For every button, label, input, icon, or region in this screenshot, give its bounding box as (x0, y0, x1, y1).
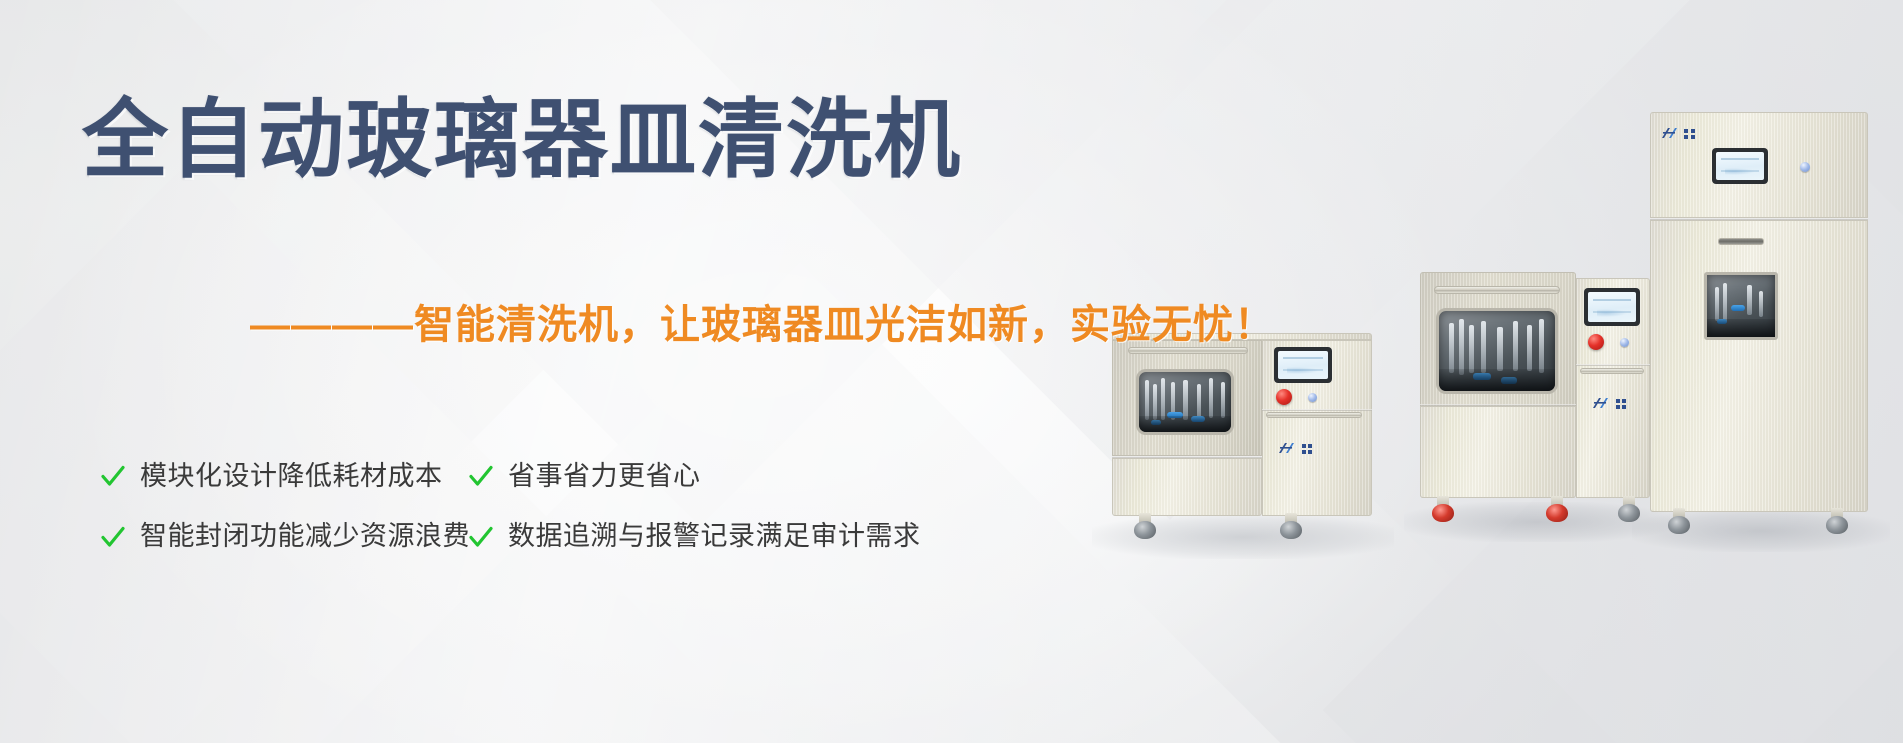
feature-item: 数据追溯与报警记录满足审计需求 (468, 520, 921, 552)
banner-text-content: 全自动玻璃器皿清洗机 ————智能清洗机，让玻璃器皿光洁如新，实验无忧！ 模块化… (0, 0, 1903, 743)
feature-row: 智能封闭功能减少资源浪费 数据追溯与报警记录满足审计需求 (100, 520, 900, 552)
feature-label: 省事省力更省心 (508, 460, 701, 492)
feature-list: 模块化设计降低耗材成本 省事省力更省心 (100, 460, 900, 581)
feature-item: 智能封闭功能减少资源浪费 (100, 520, 468, 552)
page-title: 全自动玻璃器皿清洗机 (82, 95, 962, 185)
feature-row: 模块化设计降低耗材成本 省事省力更省心 (100, 460, 900, 492)
check-icon (100, 463, 126, 489)
feature-label: 智能封闭功能减少资源浪费 (140, 520, 470, 552)
check-icon (468, 524, 494, 550)
feature-item: 模块化设计降低耗材成本 (100, 460, 468, 492)
feature-item: 省事省力更省心 (468, 460, 701, 492)
feature-label: 数据追溯与报警记录满足审计需求 (508, 520, 921, 552)
feature-label: 模块化设计降低耗材成本 (140, 460, 443, 492)
check-icon (468, 463, 494, 489)
check-icon (100, 524, 126, 550)
product-banner: 全自动玻璃器皿清洗机 ————智能清洗机，让玻璃器皿光洁如新，实验无忧！ 模块化… (0, 0, 1903, 743)
page-subtitle: ————智能清洗机，让玻璃器皿光洁如新，实验无忧！ (250, 292, 1275, 350)
